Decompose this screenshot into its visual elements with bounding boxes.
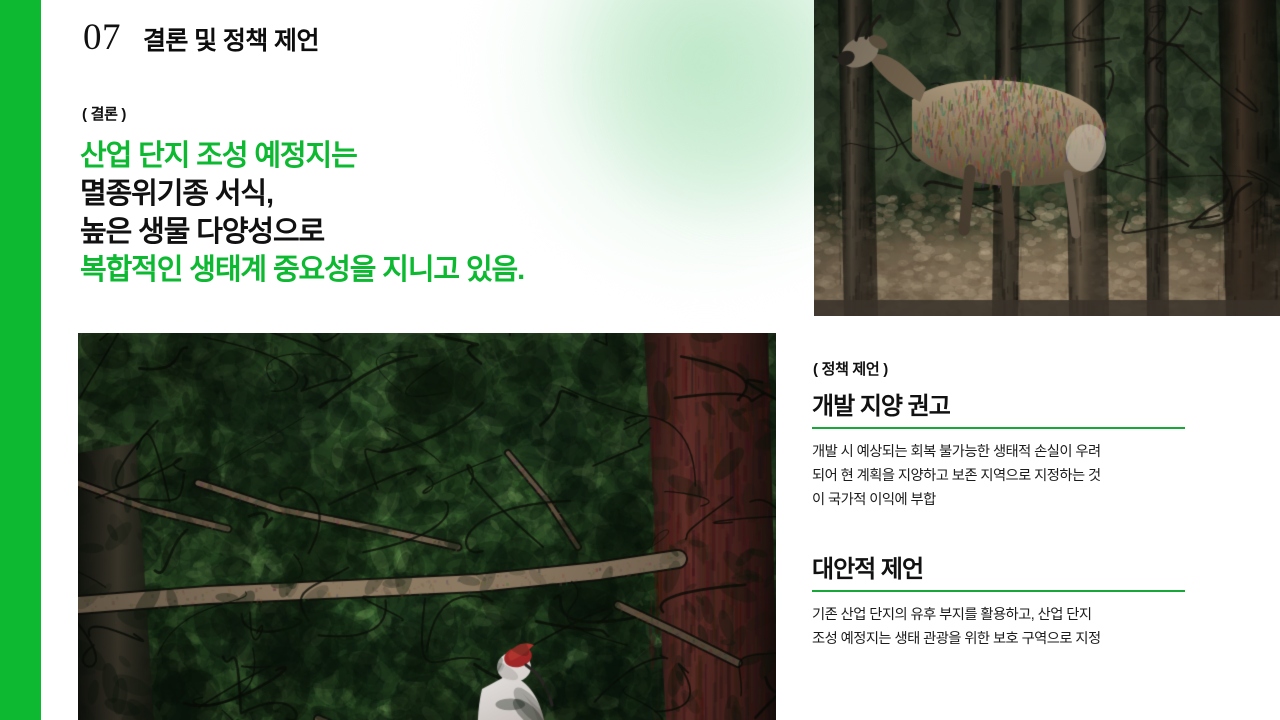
policy-heading-rule (812, 590, 1185, 592)
crested-ibis-photo-canvas (78, 333, 776, 720)
slide-root: 07 결론 및 정책 제언 ( 결론 ) 산업 단지 조성 예정지는 멸종위기종… (0, 0, 1280, 720)
goral-photo (814, 0, 1280, 316)
policy-block-alternative-proposal: 대안적 제언 기존 산업 단지의 유후 부지를 활용하고, 산업 단지 조성 예… (812, 555, 1187, 651)
section-number: 07 (83, 16, 121, 59)
policy-heading-rule (812, 427, 1185, 429)
crested-ibis-photo (78, 333, 776, 720)
goral-photo-canvas (814, 0, 1280, 316)
policy-heading: 개발 지양 권고 (812, 392, 1187, 422)
conclusion-line: 산업 단지 조성 예정지는 (80, 137, 700, 175)
conclusion-line: 멸종위기종 서식, (80, 175, 700, 213)
policy-heading: 대안적 제언 (812, 555, 1187, 585)
page-title: 07 결론 및 정책 제언 (83, 16, 319, 59)
conclusion-label: ( 결론 ) (82, 103, 126, 124)
conclusion-line: 높은 생물 다양성으로 (80, 213, 700, 251)
policy-body-line: 개발 시 예상되는 회복 불가능한 생태적 손실이 우려 (812, 440, 1187, 464)
policy-body: 기존 산업 단지의 유후 부지를 활용하고, 산업 단지 조성 예정지는 생태 … (812, 603, 1187, 651)
policy-body-line: 조성 예정지는 생태 관광을 위한 보호 구역으로 지정 (812, 627, 1187, 651)
policy-body-line: 되어 현 계획을 지양하고 보존 지역으로 지정하는 것 (812, 464, 1187, 488)
left-accent-bar (0, 0, 41, 720)
policy-body-line: 이 국가적 이익에 부합 (812, 488, 1187, 512)
conclusion-statement: 산업 단지 조성 예정지는 멸종위기종 서식, 높은 생물 다양성으로 복합적인… (80, 137, 700, 289)
policy-body: 개발 시 예상되는 회복 불가능한 생태적 손실이 우려 되어 현 계획을 지양… (812, 440, 1187, 512)
conclusion-line: 복합적인 생태계 중요성을 지니고 있음. (80, 251, 700, 289)
policy-block-development-avoidance: 개발 지양 권고 개발 시 예상되는 회복 불가능한 생태적 손실이 우려 되어… (812, 392, 1187, 512)
section-title-text: 결론 및 정책 제언 (143, 21, 319, 57)
policy-label: ( 정책 제언 ) (813, 358, 888, 379)
policy-body-line: 기존 산업 단지의 유후 부지를 활용하고, 산업 단지 (812, 603, 1187, 627)
